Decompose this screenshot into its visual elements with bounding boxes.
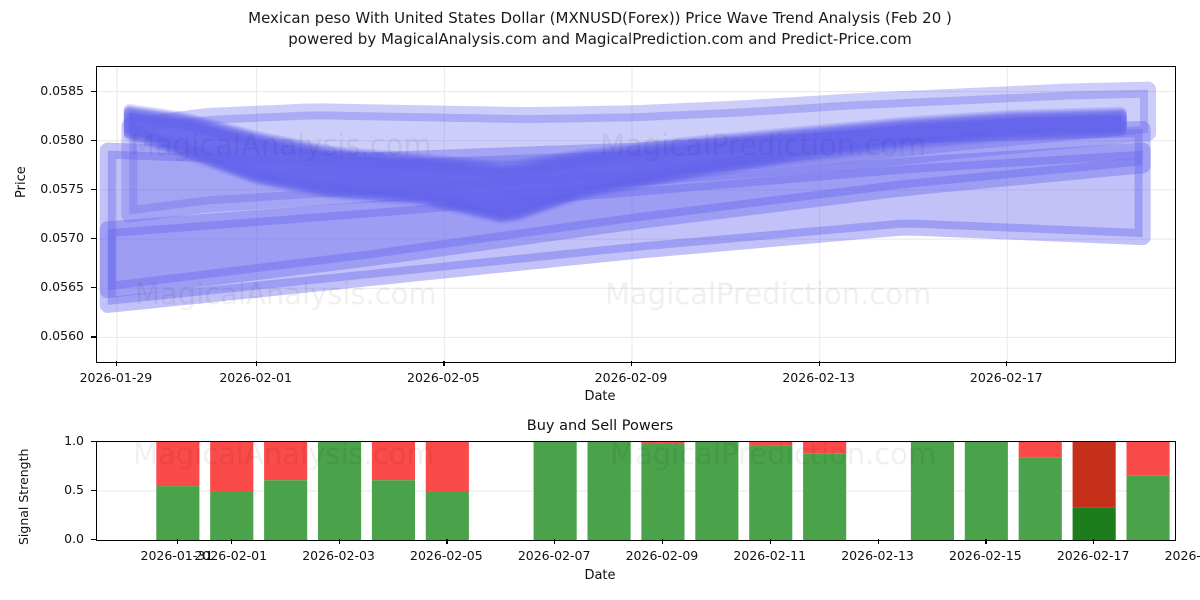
- price-x-tick-mark: [1006, 361, 1007, 366]
- buy-power-bar: [695, 442, 738, 540]
- price-y-axis-label: Price: [14, 166, 29, 198]
- price-y-tick-label: 0.0565: [0, 279, 84, 294]
- price-x-tick-label: 2026-02-13: [782, 370, 855, 385]
- price-x-tick-mark: [116, 361, 117, 366]
- price-wave-svg: [97, 67, 1175, 362]
- buy-power-bar: [534, 442, 577, 540]
- buy-power-bar: [641, 444, 684, 540]
- price-y-tick-mark: [91, 91, 96, 92]
- buy-power-bar: [803, 454, 846, 540]
- sell-power-bar: [1126, 442, 1169, 475]
- signal-x-tick-mark: [1093, 539, 1094, 544]
- signal-x-tick-label: 2026-02-05: [410, 548, 483, 563]
- signal-x-tick-mark: [985, 539, 986, 544]
- sell-power-bar: [210, 442, 253, 492]
- signal-x-tick-mark: [231, 539, 232, 544]
- sell-power-bar: [426, 442, 469, 492]
- buy-power-bar: [1126, 475, 1169, 540]
- buy-power-bar: [426, 492, 469, 540]
- buy-power-bar: [264, 480, 307, 540]
- signal-y-tick-label: 1.0: [0, 433, 84, 448]
- page-title: Mexican peso With United States Dollar (…: [0, 8, 1200, 29]
- signal-x-tick-label: 2026-02-15: [949, 548, 1022, 563]
- price-x-tick-label: 2026-02-01: [219, 370, 292, 385]
- price-y-tick-mark: [91, 336, 96, 337]
- price-x-tick-mark: [443, 361, 444, 366]
- sell-power-bar: [372, 442, 415, 480]
- signal-y-tick-mark: [91, 441, 96, 442]
- price-y-tick-label: 0.0585: [0, 83, 84, 98]
- signal-y-tick-label: 0.0: [0, 531, 84, 546]
- buy-power-bar: [1019, 458, 1062, 540]
- signal-x-tick-label: 2026-02-09: [626, 548, 699, 563]
- signal-x-tick-mark: [554, 539, 555, 544]
- signal-x-tick-mark: [446, 539, 447, 544]
- buy-power-bar: [587, 442, 630, 540]
- page-subtitle: powered by MagicalAnalysis.com and Magic…: [0, 29, 1200, 50]
- sell-power-bar: [749, 442, 792, 446]
- buy-power-bar: [749, 446, 792, 540]
- signal-x-tick-label: 2026-02-07: [518, 548, 591, 563]
- signal-x-tick-label: 2026-02-13: [841, 548, 914, 563]
- buy-power-bar: [965, 442, 1008, 540]
- sell-power-bar: [803, 442, 846, 454]
- price-y-tick-mark: [91, 189, 96, 190]
- signal-x-tick-label: 2026-02-11: [733, 548, 806, 563]
- sell-power-bar: [641, 442, 684, 444]
- price-x-tick-label: 2026-02-09: [595, 370, 668, 385]
- sell-power-bar: [1073, 442, 1116, 508]
- buy-power-bar: [1073, 508, 1116, 540]
- buy-power-bar: [911, 442, 954, 540]
- signal-y-tick-mark: [91, 539, 96, 540]
- price-x-tick-mark: [819, 361, 820, 366]
- price-y-tick-label: 0.0580: [0, 132, 84, 147]
- buy-power-bar: [318, 442, 361, 540]
- signal-x-tick-mark: [770, 539, 771, 544]
- price-x-tick-mark: [631, 361, 632, 366]
- signal-x-tick-label: 2026-02-03: [302, 548, 375, 563]
- price-y-tick-mark: [91, 140, 96, 141]
- price-y-tick-label: 0.0575: [0, 181, 84, 196]
- price-chart-plot-area: [96, 66, 1176, 363]
- sell-power-bar: [156, 442, 199, 486]
- chart-page: Mexican peso With United States Dollar (…: [0, 0, 1200, 600]
- price-y-tick-label: 0.0560: [0, 328, 84, 343]
- buy-power-bar: [372, 480, 415, 540]
- price-y-tick-mark: [91, 287, 96, 288]
- signal-x-axis-label: Date: [0, 568, 1200, 583]
- signal-x-tick-mark: [177, 539, 178, 544]
- signal-x-tick-label: 2026-02-17: [1057, 548, 1130, 563]
- signal-x-tick-mark: [662, 539, 663, 544]
- signal-y-tick-mark: [91, 490, 96, 491]
- buy-power-bar: [210, 492, 253, 540]
- price-y-tick-mark: [91, 238, 96, 239]
- chart-title-block: Mexican peso With United States Dollar (…: [0, 8, 1200, 50]
- signal-y-axis-label: Signal Strength: [16, 449, 31, 545]
- sell-power-bar: [1019, 442, 1062, 458]
- price-y-tick-label: 0.0570: [0, 230, 84, 245]
- signal-x-tick-mark: [878, 539, 879, 544]
- signal-y-tick-label: 0.5: [0, 482, 84, 497]
- buy-sell-bars-svg: [97, 442, 1175, 540]
- price-x-tick-label: 2026-02-05: [407, 370, 480, 385]
- price-x-axis-label: Date: [0, 389, 1200, 404]
- signal-x-tick-label: 2026-02-19: [1165, 548, 1200, 563]
- buy-power-bar: [156, 486, 199, 540]
- price-x-tick-label: 2026-02-17: [970, 370, 1043, 385]
- sell-power-bar: [264, 442, 307, 480]
- signal-chart-title: Buy and Sell Powers: [0, 418, 1200, 434]
- signal-x-tick-label: 2026-02-01: [194, 548, 267, 563]
- signal-chart-plot-area: [96, 441, 1176, 541]
- signal-x-tick-mark: [339, 539, 340, 544]
- price-x-tick-mark: [256, 361, 257, 366]
- price-x-tick-label: 2026-01-29: [80, 370, 153, 385]
